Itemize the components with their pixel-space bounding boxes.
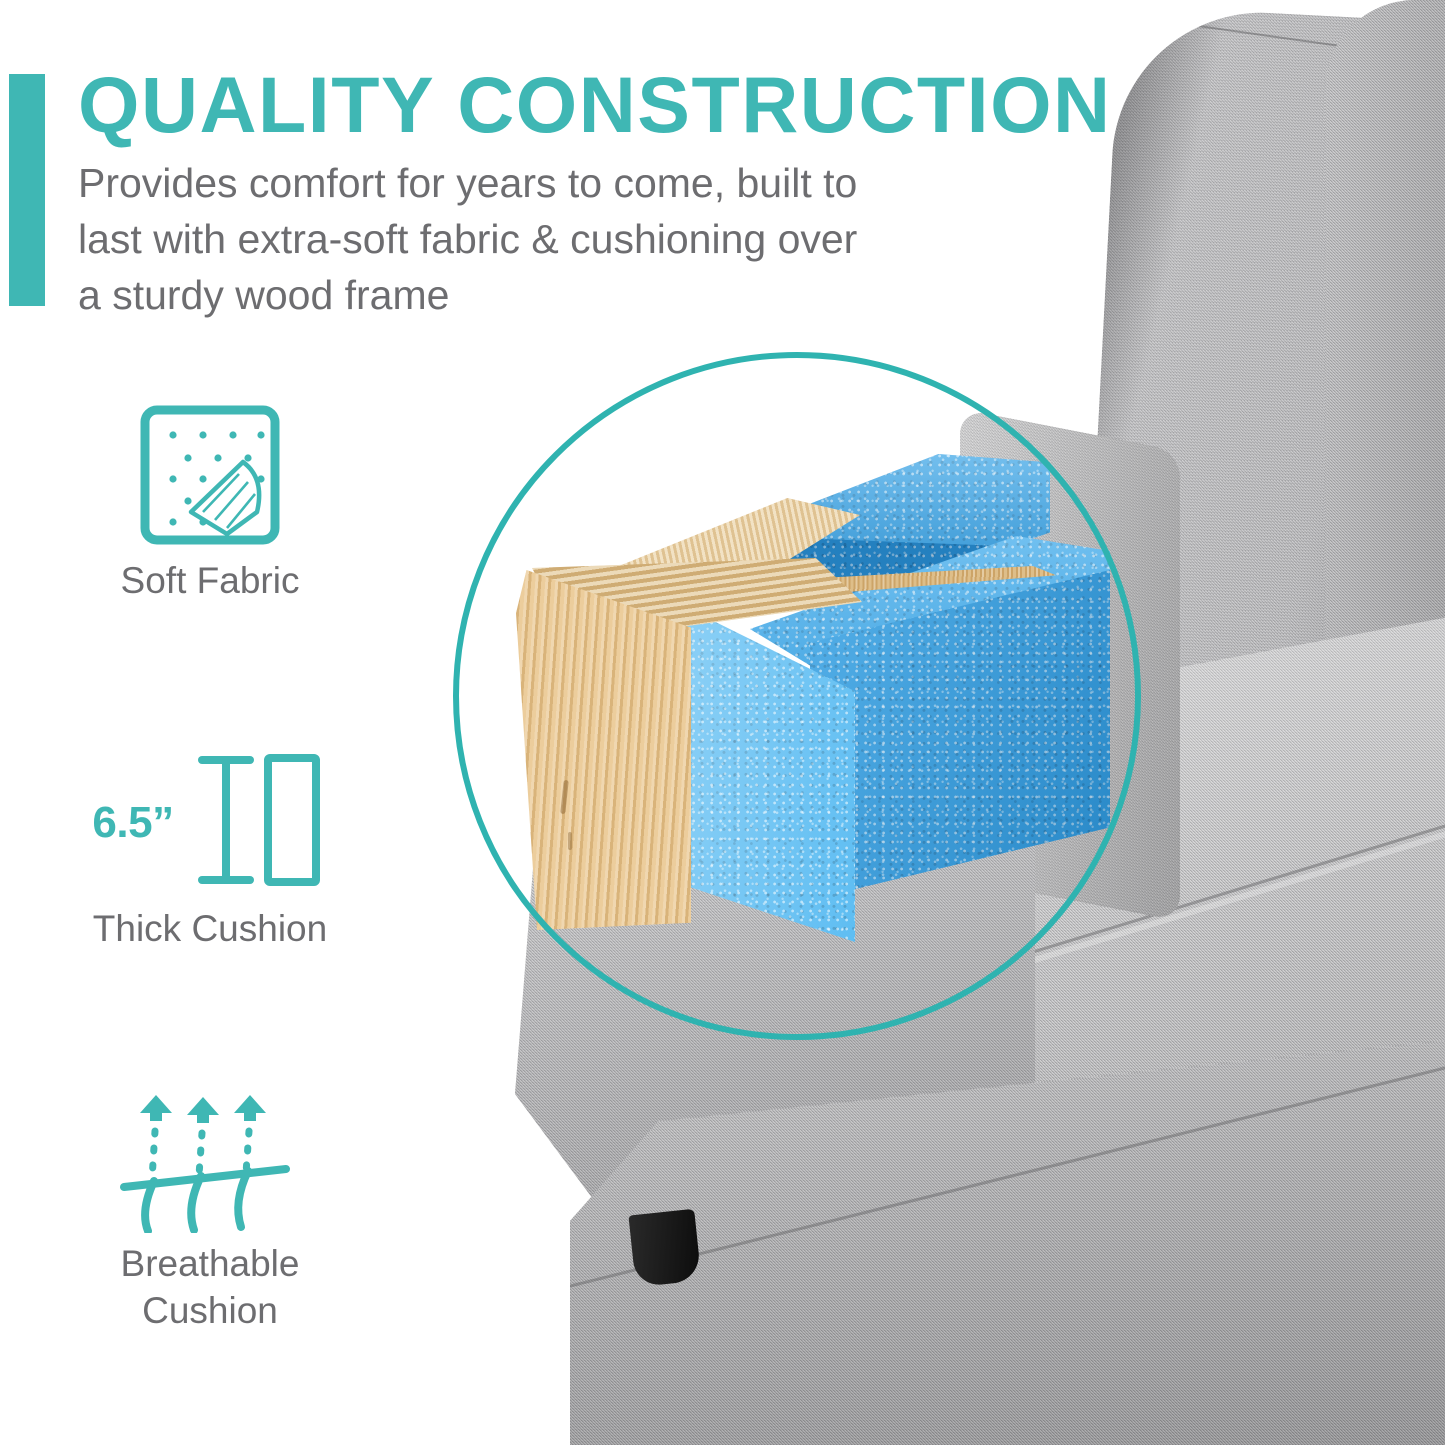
feature-label-breathable-cushion: Breathable Cushion (0, 1240, 420, 1334)
accent-bar (9, 74, 45, 306)
feature-label-line-2: Cushion (0, 1287, 420, 1334)
wood-front-face (516, 570, 691, 930)
feature-breathable-cushion: Breathable Cushion (0, 1075, 420, 1334)
feature-soft-fabric: Soft Fabric (0, 392, 420, 604)
page-subtitle: Provides comfort for years to come, buil… (78, 155, 1038, 323)
page-title: QUALITY CONSTRUCTION (78, 62, 1138, 148)
armrest-cutaway (510, 440, 1130, 940)
cushion-thickness-value: 6.5” (92, 798, 173, 848)
subtitle-line-3: a sturdy wood frame (78, 267, 1038, 323)
subtitle-line-1: Provides comfort for years to come, buil… (78, 155, 1038, 211)
infographic-canvas: QUALITY CONSTRUCTION Provides comfort fo… (0, 0, 1445, 1445)
feature-label-soft-fabric: Soft Fabric (0, 557, 420, 604)
cushion-thickness-icon (188, 745, 328, 900)
feature-thick-cushion: 6.5” Thick Cushion (0, 740, 420, 952)
feature-label-line-1: Breathable (121, 1243, 300, 1284)
breathable-airflow-icon (0, 1075, 420, 1240)
feature-label-thick-cushion: Thick Cushion (0, 905, 420, 952)
subtitle-line-2: last with extra-soft fabric & cushioning… (78, 211, 1038, 267)
fabric-swatch-icon (0, 392, 420, 557)
